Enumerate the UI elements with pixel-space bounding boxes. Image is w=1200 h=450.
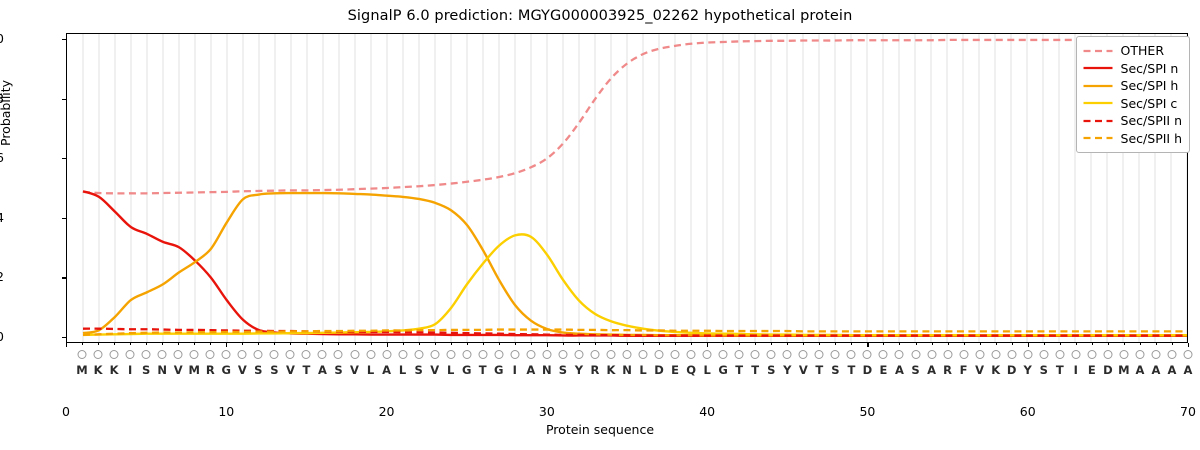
x-tick-mark <box>66 343 67 347</box>
x-tick-minor <box>435 343 436 345</box>
x-tick-label: 60 <box>1020 404 1036 419</box>
residue-letter: R <box>206 363 215 377</box>
x-tick-minor <box>483 343 484 345</box>
residue-marker <box>927 350 936 359</box>
residue-letter: D <box>863 363 873 377</box>
x-tick-minor <box>403 343 404 345</box>
x-tick-minor <box>1028 343 1029 345</box>
residue-marker <box>1055 350 1064 359</box>
residue-letter: L <box>447 363 454 377</box>
x-tick-minor <box>290 343 291 345</box>
residue-marker <box>238 350 247 359</box>
x-tick-minor <box>531 343 532 345</box>
residue-letter: V <box>430 363 439 377</box>
x-tick-minor <box>948 343 949 345</box>
residue-marker <box>879 350 888 359</box>
residue-letter: S <box>767 363 775 377</box>
residue-letter: M <box>76 363 87 377</box>
x-tick-minor <box>338 343 339 345</box>
residue-marker <box>254 350 263 359</box>
residue-marker <box>542 350 551 359</box>
y-tick-mark <box>62 158 66 159</box>
y-tick-mark <box>62 218 66 219</box>
residue-letter: Y <box>783 363 791 377</box>
x-tick-minor <box>242 343 243 345</box>
y-tick-label: 0.8 <box>0 91 4 106</box>
x-tick-label: 20 <box>379 404 395 419</box>
x-tick-minor <box>1140 343 1141 345</box>
residue-letter: T <box>751 363 759 377</box>
x-tick-minor <box>467 343 468 345</box>
x-tick-label: 10 <box>218 404 234 419</box>
residue-marker <box>110 350 119 359</box>
residue-marker <box>943 350 952 359</box>
x-tick-label: 70 <box>1180 404 1196 419</box>
residue-marker <box>302 350 311 359</box>
series-line-sec-spi-h <box>83 193 1187 335</box>
residue-marker <box>270 350 279 359</box>
legend-item-other[interactable]: OTHER <box>1083 42 1182 60</box>
residue-marker <box>975 350 984 359</box>
x-tick-label: 40 <box>699 404 715 419</box>
residue-letter: A <box>1184 363 1193 377</box>
x-tick-minor <box>691 343 692 345</box>
residue-letter: V <box>174 363 183 377</box>
residue-letter: F <box>960 363 968 377</box>
x-tick-minor <box>210 343 211 345</box>
x-tick-minor <box>1060 343 1061 345</box>
x-tick-minor <box>499 343 500 345</box>
residue-letter: V <box>286 363 295 377</box>
y-tick-label: 0.2 <box>0 269 4 284</box>
residue-letter: L <box>367 363 374 377</box>
residue-letter: S <box>142 363 150 377</box>
legend-swatch-sec-spi-h <box>1083 80 1113 92</box>
residue-marker <box>703 350 712 359</box>
residue-letter: M <box>1118 363 1129 377</box>
residue-letter: S <box>270 363 278 377</box>
legend-swatch-sec-spi-c <box>1083 97 1113 109</box>
residue-letter: D <box>1103 363 1113 377</box>
residue-letter: G <box>494 363 503 377</box>
x-tick-label: 50 <box>859 404 875 419</box>
y-tick-label: 0.4 <box>0 210 4 225</box>
residue-letter: T <box>302 363 310 377</box>
legend-swatch-sec-spii-h <box>1083 132 1113 144</box>
x-tick-label: 0 <box>62 404 70 419</box>
residue-marker <box>1184 350 1193 359</box>
residue-letter: G <box>718 363 727 377</box>
residue-marker <box>655 350 664 359</box>
x-tick-minor <box>146 343 147 345</box>
residue-letter: T <box>1056 363 1064 377</box>
residue-marker <box>815 350 824 359</box>
x-tick-minor <box>851 343 852 345</box>
residue-marker <box>174 350 183 359</box>
x-tick-minor <box>739 343 740 345</box>
residue-marker <box>558 350 567 359</box>
x-tick-minor <box>1076 343 1077 345</box>
residue-letter: L <box>639 363 646 377</box>
series-line-sec-spi-n <box>83 191 1187 336</box>
x-tick-minor <box>515 343 516 345</box>
residue-letter: A <box>1151 363 1160 377</box>
x-tick-minor <box>387 343 388 345</box>
x-tick-minor <box>755 343 756 345</box>
chart-title: SignalP 6.0 prediction: MGYG000003925_02… <box>0 8 1200 24</box>
x-tick-minor <box>98 343 99 345</box>
residue-letter: A <box>1135 363 1144 377</box>
residue-letter: S <box>911 363 919 377</box>
residue-marker <box>863 350 872 359</box>
residue-letter: S <box>1040 363 1048 377</box>
y-tick-mark <box>62 99 66 100</box>
x-tick-minor <box>563 343 564 345</box>
residue-marker <box>510 350 519 359</box>
legend-label-sec-spii-n: Sec/SPII n <box>1121 113 1182 128</box>
legend-item-sec-spii-n[interactable]: Sec/SPII n <box>1083 112 1182 130</box>
x-tick-minor <box>771 343 772 345</box>
residue-marker <box>751 350 760 359</box>
x-tick-minor <box>659 343 660 345</box>
residue-letter: L <box>703 363 710 377</box>
x-tick-minor <box>964 343 965 345</box>
residue-letter: E <box>671 363 679 377</box>
legend-swatch-sec-spi-n <box>1083 62 1113 74</box>
legend[interactable]: OTHERSec/SPI nSec/SPI hSec/SPI cSec/SPII… <box>1076 36 1190 153</box>
residue-letter: D <box>1007 363 1017 377</box>
residue-marker <box>526 350 535 359</box>
residue-marker <box>847 350 856 359</box>
residue-letter: V <box>799 363 808 377</box>
residue-letter: K <box>110 363 119 377</box>
residue-marker <box>1007 350 1016 359</box>
residue-marker <box>1039 350 1048 359</box>
residue-marker <box>1167 350 1176 359</box>
y-tick-mark <box>62 39 66 40</box>
residue-marker <box>671 350 680 359</box>
residue-letter: N <box>157 363 167 377</box>
residue-marker <box>799 350 808 359</box>
residue-letter: Y <box>1024 363 1032 377</box>
legend-label-sec-spii-h: Sec/SPII h <box>1121 131 1182 146</box>
residue-letter: G <box>462 363 471 377</box>
x-tick-minor <box>274 343 275 345</box>
residue-marker <box>1135 350 1144 359</box>
x-tick-minor <box>1108 343 1109 345</box>
x-axis-label: Protein sequence <box>0 422 1200 437</box>
x-tick-minor <box>579 343 580 345</box>
x-tick-minor <box>627 343 628 345</box>
residue-letter: T <box>815 363 823 377</box>
residue-letter: A <box>927 363 936 377</box>
residue-marker <box>318 350 327 359</box>
grid-lines <box>83 34 1187 342</box>
residue-marker <box>719 350 728 359</box>
x-tick-minor <box>306 343 307 345</box>
x-tick-minor <box>194 343 195 345</box>
residue-letter: A <box>382 363 391 377</box>
x-tick-minor <box>932 343 933 345</box>
residue-letter: E <box>1088 363 1096 377</box>
x-tick-minor <box>162 343 163 345</box>
residue-letter: A <box>1168 363 1177 377</box>
x-tick-minor <box>916 343 917 345</box>
x-tick-minor <box>899 343 900 345</box>
y-tick-label: 0.6 <box>0 150 4 165</box>
x-tick-minor <box>787 343 788 345</box>
residue-letter: V <box>350 363 359 377</box>
legend-item-sec-spii-h[interactable]: Sec/SPII h <box>1083 130 1182 148</box>
residue-letter: E <box>880 363 888 377</box>
x-tick-minor <box>1156 343 1157 345</box>
residue-letter: Q <box>686 363 696 377</box>
plot-canvas <box>67 34 1187 342</box>
y-tick-mark <box>62 277 66 278</box>
residue-letter: V <box>238 363 247 377</box>
legend-label-other: OTHER <box>1121 43 1164 58</box>
x-tick-minor <box>355 343 356 345</box>
x-tick-minor <box>723 343 724 345</box>
residue-marker <box>462 350 471 359</box>
x-tick-minor <box>371 343 372 345</box>
residue-letter: T <box>735 363 743 377</box>
residue-marker <box>366 350 375 359</box>
residue-marker <box>639 350 648 359</box>
y-tick-mark <box>62 337 66 338</box>
y-tick-label: 1.0 <box>0 31 4 46</box>
x-tick-minor <box>130 343 131 345</box>
series-line-sec-spi-c <box>83 234 1187 335</box>
residue-marker <box>94 350 103 359</box>
residue-marker <box>687 350 696 359</box>
legend-item-sec-spi-n[interactable]: Sec/SPI n <box>1083 60 1182 78</box>
residue-letter: S <box>334 363 342 377</box>
residue-marker <box>190 350 199 359</box>
residue-marker <box>895 350 904 359</box>
residue-letter: K <box>607 363 616 377</box>
residue-marker <box>1071 350 1080 359</box>
residue-letter: I <box>128 363 132 377</box>
residue-marker <box>783 350 792 359</box>
x-tick-minor <box>451 343 452 345</box>
legend-label-sec-spi-h: Sec/SPI h <box>1121 78 1179 93</box>
residue-marker <box>911 350 920 359</box>
residue-letter: S <box>559 363 567 377</box>
residue-letter: N <box>542 363 552 377</box>
residue-letter: A <box>318 363 327 377</box>
y-tick-label: 0.0 <box>0 329 4 344</box>
residue-letter: R <box>591 363 600 377</box>
x-tick-minor <box>419 343 420 345</box>
x-tick-minor <box>675 343 676 345</box>
legend-swatch-other <box>1083 45 1113 57</box>
residue-marker <box>831 350 840 359</box>
signalp-prediction-figure: SignalP 6.0 prediction: MGYG000003925_02… <box>0 0 1200 450</box>
series-lines <box>83 40 1187 336</box>
residue-marker <box>446 350 455 359</box>
x-tick-minor <box>258 343 259 345</box>
residue-letter: N <box>622 363 632 377</box>
legend-item-sec-spi-h[interactable]: Sec/SPI h <box>1083 77 1182 95</box>
residue-marker <box>286 350 295 359</box>
residue-marker <box>1103 350 1112 359</box>
x-tick-minor <box>867 343 868 345</box>
x-tick-minor <box>643 343 644 345</box>
residue-letter: G <box>222 363 231 377</box>
residue-marker <box>767 350 776 359</box>
residue-marker <box>430 350 439 359</box>
residue-letter: V <box>975 363 984 377</box>
series-line-other <box>83 40 1187 193</box>
x-tick-minor <box>114 343 115 345</box>
x-tick-minor <box>883 343 884 345</box>
x-tick-minor <box>82 343 83 345</box>
residue-marker <box>574 350 583 359</box>
residue-marker <box>398 350 407 359</box>
residue-marker <box>206 350 215 359</box>
x-tick-minor <box>322 343 323 345</box>
residue-letter: K <box>94 363 103 377</box>
residue-letter: L <box>399 363 406 377</box>
residue-letter: M <box>188 363 199 377</box>
x-tick-minor <box>1124 343 1125 345</box>
legend-label-sec-spi-c: Sec/SPI c <box>1121 96 1178 111</box>
residue-marker <box>1087 350 1096 359</box>
x-tick-minor <box>226 343 227 345</box>
residue-letter: T <box>479 363 487 377</box>
x-tick-minor <box>1172 343 1173 345</box>
plot-area <box>66 33 1188 343</box>
residue-letter: S <box>414 363 422 377</box>
residue-marker <box>1151 350 1160 359</box>
residue-marker <box>142 350 151 359</box>
x-tick-minor <box>547 343 548 345</box>
residue-marker <box>1023 350 1032 359</box>
x-tick-minor <box>1092 343 1093 345</box>
x-tick-minor <box>819 343 820 345</box>
x-tick-minor <box>611 343 612 345</box>
residue-marker <box>590 350 599 359</box>
residue-marker <box>126 350 135 359</box>
residue-marker <box>222 350 231 359</box>
residue-letter: S <box>254 363 262 377</box>
residue-marker <box>158 350 167 359</box>
x-tick-label: 30 <box>539 404 555 419</box>
residue-marker <box>350 350 359 359</box>
residue-marker <box>623 350 632 359</box>
residue-marker <box>78 350 87 359</box>
x-tick-minor <box>707 343 708 345</box>
residue-marker <box>735 350 744 359</box>
residue-letter: I <box>513 363 517 377</box>
residue-marker <box>991 350 1000 359</box>
residue-marker <box>494 350 503 359</box>
residue-marker <box>478 350 487 359</box>
residue-marker <box>382 350 391 359</box>
legend-label-sec-spi-n: Sec/SPI n <box>1121 61 1179 76</box>
residue-letter: K <box>991 363 1000 377</box>
residue-letter: Y <box>575 363 583 377</box>
x-tick-minor <box>178 343 179 345</box>
residue-marker <box>1119 350 1128 359</box>
residue-marker <box>606 350 615 359</box>
residue-letter: I <box>1074 363 1078 377</box>
residue-marker <box>414 350 423 359</box>
x-tick-minor <box>803 343 804 345</box>
legend-item-sec-spi-c[interactable]: Sec/SPI c <box>1083 95 1182 113</box>
residue-letter: D <box>654 363 664 377</box>
residue-letter: A <box>895 363 904 377</box>
x-tick-minor <box>595 343 596 345</box>
x-tick-minor <box>835 343 836 345</box>
residue-marker <box>959 350 968 359</box>
residue-marker <box>334 350 343 359</box>
x-tick-minor <box>980 343 981 345</box>
x-tick-minor <box>1188 343 1189 345</box>
residue-letter: T <box>847 363 855 377</box>
residue-letter: R <box>943 363 952 377</box>
residue-letter: A <box>526 363 535 377</box>
x-tick-minor <box>1044 343 1045 345</box>
x-tick-minor <box>1012 343 1013 345</box>
x-tick-minor <box>996 343 997 345</box>
residue-letter: S <box>831 363 839 377</box>
legend-swatch-sec-spii-n <box>1083 115 1113 127</box>
